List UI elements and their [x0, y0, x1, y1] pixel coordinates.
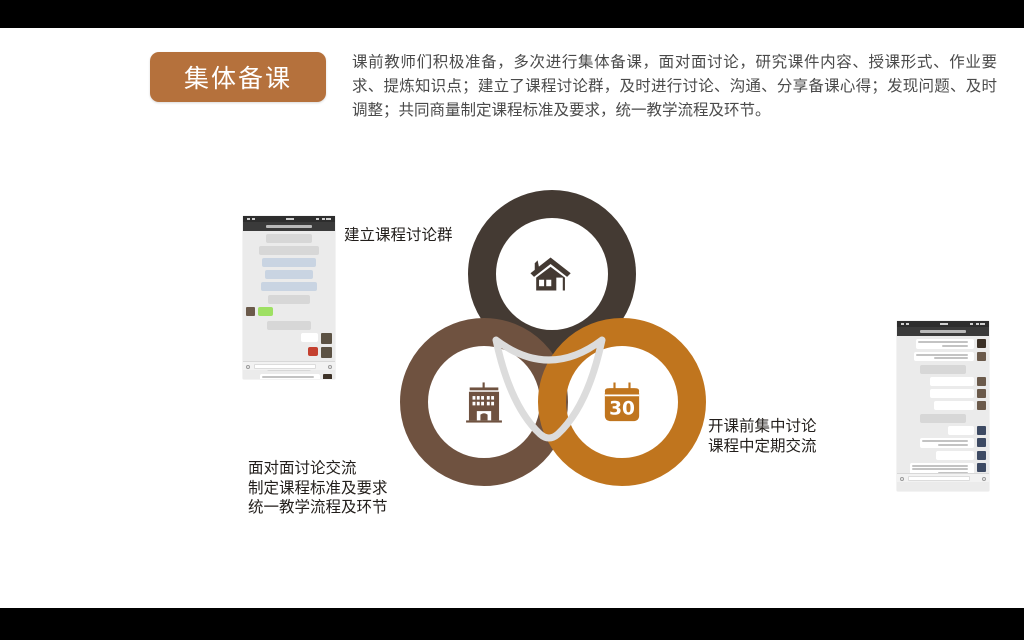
phone-status-bar: [897, 321, 989, 327]
chat-image: [321, 333, 332, 344]
calendar-icon: 30: [592, 372, 652, 432]
avatar: [977, 389, 986, 398]
phone-input-bar[interactable]: [243, 361, 335, 370]
phone-status-bar: [243, 216, 335, 222]
phone-chat-title: [266, 225, 312, 228]
avatar: [977, 352, 986, 361]
slide-canvas: 集体备课 课前教师们积极准备，多次进行集体备课，面对面讨论，研究课件内容、授课形…: [0, 28, 1024, 608]
chat-image: [321, 347, 332, 358]
section-title-badge: 集体备课: [150, 52, 326, 102]
avatar: [977, 438, 986, 447]
avatar: [977, 339, 986, 348]
diagram-label-standards: 面对面讨论交流 制定课程标准及要求 统一教学流程及环节: [248, 459, 388, 518]
phone-chat-body: [243, 231, 335, 370]
avatar: [323, 374, 332, 379]
wechat-screenshot-left: [243, 216, 335, 379]
avatar: [977, 426, 986, 435]
phone-chat-title-bar: [897, 327, 989, 336]
avatar: [977, 463, 986, 472]
section-title-label: 集体备课: [184, 59, 292, 95]
intro-paragraph: 课前教师们积极准备，多次进行集体备课，面对面讨论，研究课件内容、授课形式、作业要…: [352, 50, 997, 122]
phone-chat-title-bar: [243, 222, 335, 231]
phone-chat-body: [897, 336, 989, 482]
letterbox-top: [0, 0, 1024, 28]
school-building-icon: [454, 372, 514, 432]
home-icon: [522, 244, 582, 304]
calendar-day-number: 30: [609, 398, 635, 419]
wechat-screenshot-right: [897, 321, 989, 491]
avatar: [977, 401, 986, 410]
phone-chat-title: [920, 330, 966, 333]
avatar: [246, 307, 255, 316]
slide-root: 集体备课 课前教师们积极准备，多次进行集体备课，面对面讨论，研究课件内容、授课形…: [0, 0, 1024, 640]
phone-message-input[interactable]: [254, 364, 316, 369]
avatar: [977, 377, 986, 386]
phone-input-bar[interactable]: [897, 473, 989, 482]
letterbox-bottom: [0, 608, 1024, 640]
avatar: [977, 451, 986, 460]
diagram-label-schedule: 开课前集中讨论 课程中定期交流: [708, 417, 817, 456]
phone-message-input[interactable]: [908, 476, 970, 481]
diagram-label-discussion-group: 建立课程讨论群: [344, 226, 453, 246]
